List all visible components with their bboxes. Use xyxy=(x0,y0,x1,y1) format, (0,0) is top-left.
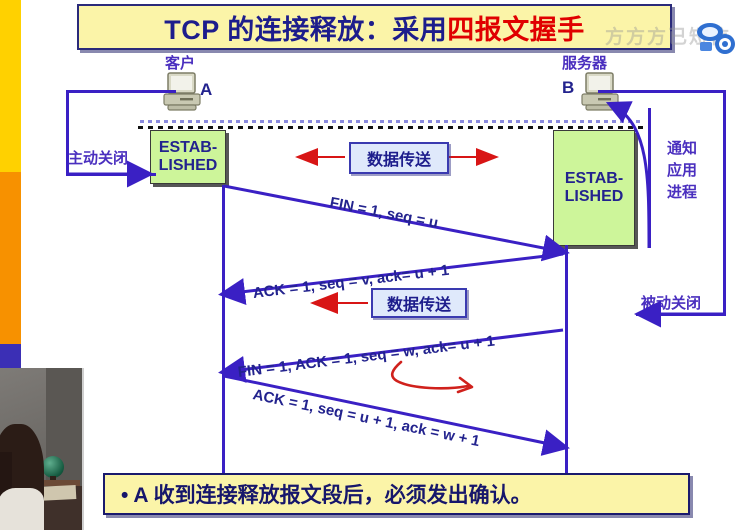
server-label: 服务器 xyxy=(562,52,607,73)
data-transfer-arrow-mid xyxy=(310,292,368,314)
corner-logo-icon xyxy=(694,22,738,54)
message-label-3: FIN = 1, ACK = 1, seq = w, ack= u + 1 xyxy=(237,333,496,381)
notify-line1: 通知 xyxy=(667,140,697,157)
data-transfer-box-mid: 数据传送 xyxy=(371,288,467,318)
client-timeline xyxy=(222,185,225,480)
notify-line3: 进程 xyxy=(667,184,697,201)
left-rail-orange xyxy=(0,172,21,344)
red-annotation-arrowhead xyxy=(458,378,472,392)
arrow-layer xyxy=(0,0,741,530)
title-banner: TCP 的连接释放：采用四报文握手 xyxy=(77,4,672,50)
webcam-globe xyxy=(42,456,64,478)
message-label-1: FIN = 1, seq = u xyxy=(328,194,439,232)
bottom-caption-text: • A 收到连接释放报文段后，必须发出确认。 xyxy=(121,479,532,509)
passive-close-frame-top xyxy=(598,90,726,93)
slide-canvas: TCP 的连接释放：采用四报文握手 方方方已短信 客户 服务器 A B ESTA… xyxy=(0,0,741,530)
active-close-frame-top xyxy=(66,90,176,93)
dashed-line-blue xyxy=(140,120,640,123)
red-annotation-squiggle xyxy=(392,362,468,388)
client-state-line1: ESTAB- xyxy=(159,139,217,157)
notify-loop-vertical xyxy=(648,108,651,248)
server-computer-icon xyxy=(578,72,624,114)
server-letter: B xyxy=(562,78,574,98)
server-state-box: ESTAB- LISHED xyxy=(553,130,635,246)
data-transfer-box-top: 数据传送 xyxy=(349,142,449,174)
passive-close-frame-bottom xyxy=(636,313,726,316)
passive-close-frame-vertical xyxy=(723,90,726,316)
bottom-caption: • A 收到连接释放报文段后，必须发出确认。 xyxy=(103,473,690,515)
left-rail-yellow xyxy=(0,0,21,172)
title-main-text: TCP 的连接释放：采用 xyxy=(164,15,447,45)
notify-line2: 应用 xyxy=(667,162,697,179)
left-rail-blue xyxy=(0,344,21,368)
webcam-person-shirt xyxy=(0,488,44,530)
passive-close-label: 被动关闭 xyxy=(641,292,701,313)
notify-process-label: 通知 应用 进程 xyxy=(667,138,697,203)
client-state-line2: LISHED xyxy=(159,157,218,175)
active-close-label: 主动关闭 xyxy=(68,147,128,168)
server-state-line2: LISHED xyxy=(565,188,624,206)
title-highlight-text: 四报文握手 xyxy=(447,15,585,45)
active-close-frame-bottom xyxy=(66,173,156,176)
message-arrow-4 xyxy=(224,376,564,447)
server-state-line1: ESTAB- xyxy=(565,170,623,188)
client-label: 客户 xyxy=(165,52,195,73)
client-computer-icon xyxy=(160,72,206,114)
client-state-box: ESTAB- LISHED xyxy=(150,130,226,184)
message-label-4: ACK = 1, seq = u + 1, ack = w + 1 xyxy=(251,386,481,450)
dashed-line-black xyxy=(138,126,644,129)
page-title: TCP 的连接释放：采用四报文握手 xyxy=(164,8,585,47)
server-timeline xyxy=(565,245,568,480)
webcam-overlay xyxy=(0,368,84,530)
